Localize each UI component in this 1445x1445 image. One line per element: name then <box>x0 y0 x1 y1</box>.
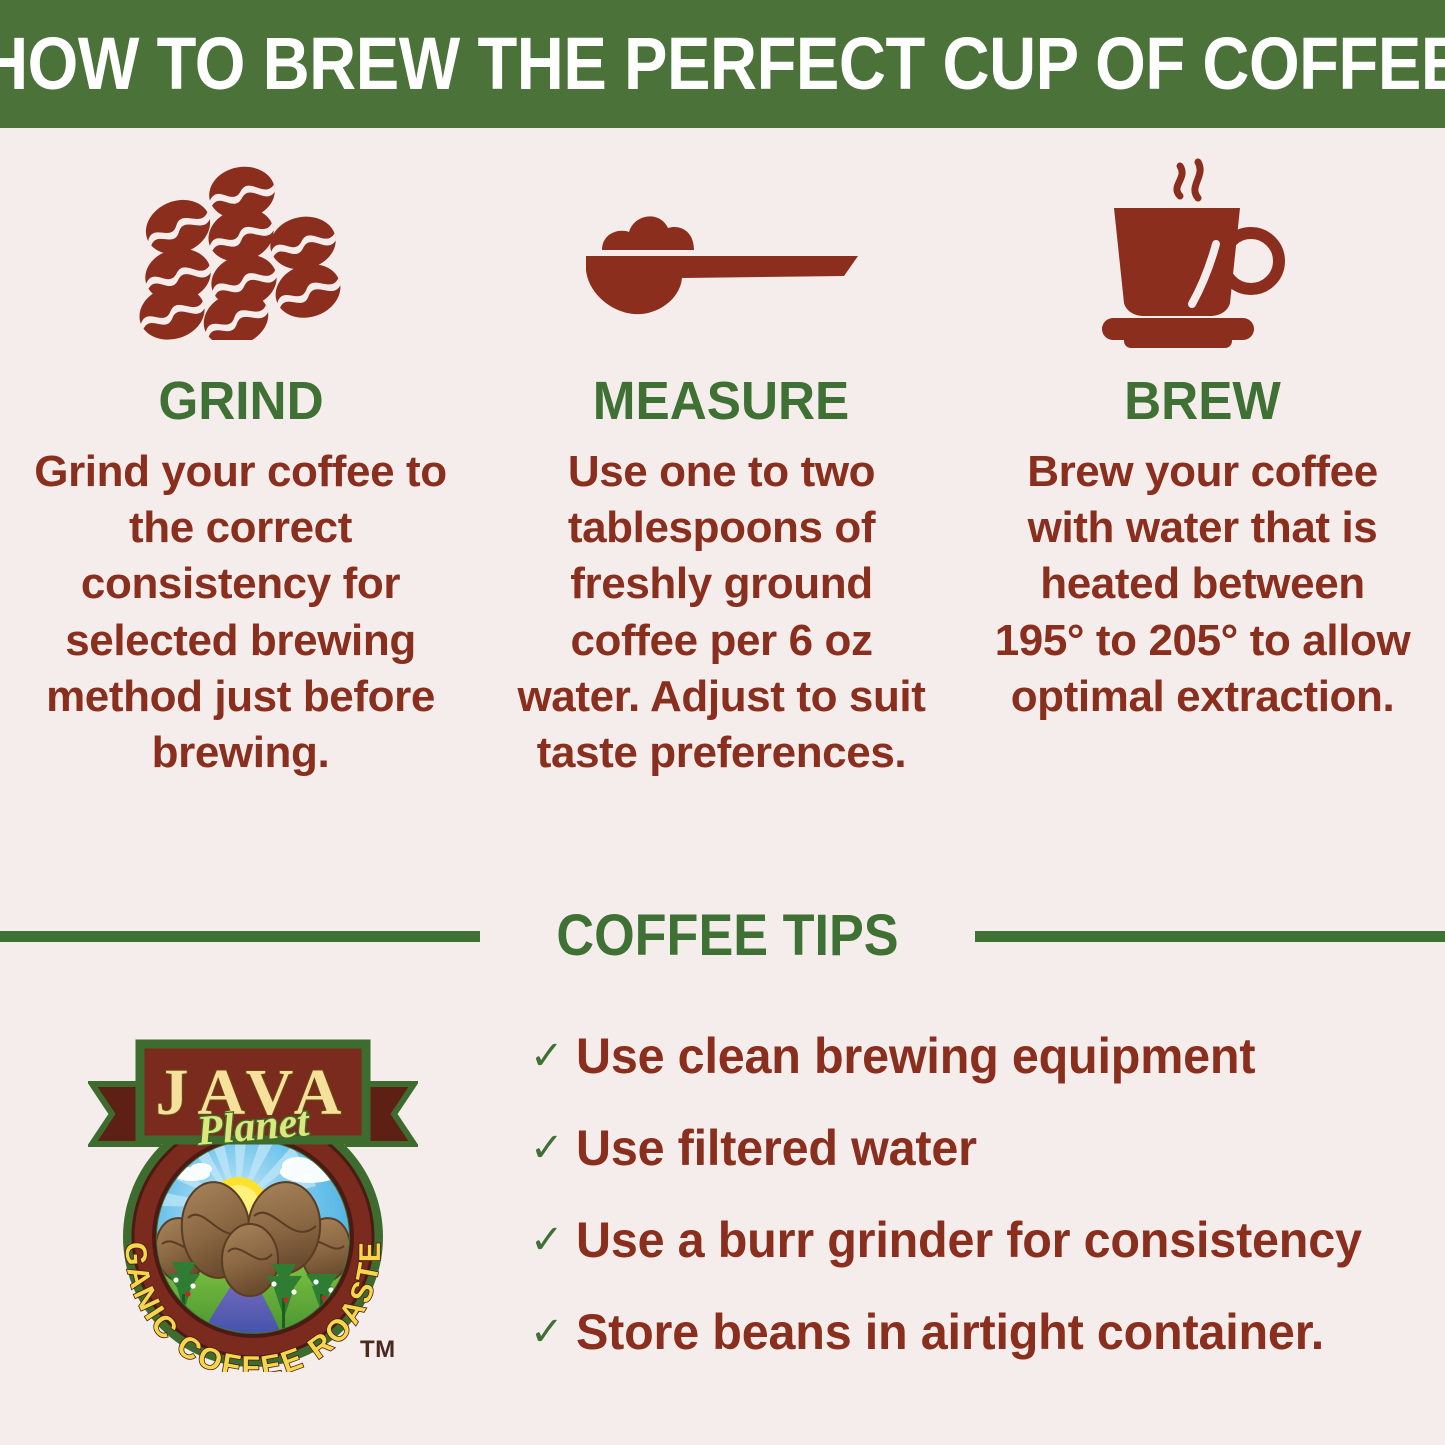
list-item: ✓ Store beans in airtight container. <box>530 1286 1430 1378</box>
coffee-cup-icon <box>1088 158 1318 348</box>
logo-artwork: ORGANIC COFFEE ROASTERS JAVA Planet <box>88 1022 418 1372</box>
step-body-measure: Use one to two tablespoons of freshly gr… <box>512 444 932 782</box>
check-icon: ✓ <box>530 1036 576 1076</box>
coffee-tips-header: COFFEE TIPS <box>0 903 1445 969</box>
tip-text: Store beans in airtight container. <box>576 1307 1324 1357</box>
trademark-mark: TM <box>360 1336 396 1364</box>
measure-icon-box <box>582 150 862 355</box>
list-item: ✓ Use filtered water <box>530 1102 1430 1194</box>
tip-text: Use clean brewing equipment <box>576 1031 1255 1081</box>
steps-row: GRIND Grind your coffee to the correct c… <box>0 150 1445 782</box>
infographic-page: HOW TO BREW THE PERFECT CUP OF COFFEE <box>0 0 1445 1445</box>
brew-icon-box <box>1088 150 1318 355</box>
tip-text: Use a burr grinder for consistency <box>576 1215 1362 1265</box>
step-body-grind: Grind your coffee to the correct consist… <box>31 444 451 782</box>
divider-left <box>0 931 480 942</box>
divider-right <box>975 931 1445 942</box>
check-icon: ✓ <box>530 1220 576 1260</box>
page-title: HOW TO BREW THE PERFECT CUP OF COFFEE <box>0 27 1445 101</box>
step-body-brew: Brew your coffee with water that is heat… <box>993 444 1413 726</box>
java-planet-logo: ORGANIC COFFEE ROASTERS JAVA Planet <box>88 1022 418 1372</box>
coffee-tips-list: ✓ Use clean brewing equipment ✓ Use filt… <box>530 1010 1430 1378</box>
check-icon: ✓ <box>530 1128 576 1168</box>
step-title-measure: MEASURE <box>593 373 850 430</box>
step-measure: MEASURE Use one to two tablespoons of fr… <box>481 150 962 782</box>
step-title-grind: GRIND <box>158 373 323 430</box>
check-icon: ✓ <box>530 1312 576 1352</box>
coffee-tips-title: COFFEE TIPS <box>505 907 951 965</box>
step-title-brew: BREW <box>1124 373 1281 430</box>
step-grind: GRIND Grind your coffee to the correct c… <box>0 150 481 782</box>
step-brew: BREW Brew your coffee with water that is… <box>962 150 1443 725</box>
header-bar: HOW TO BREW THE PERFECT CUP OF COFFEE <box>0 0 1445 128</box>
grind-icon-box <box>136 150 346 355</box>
list-item: ✓ Use a burr grinder for consistency <box>530 1194 1430 1286</box>
coffee-beans-icon <box>136 165 346 340</box>
list-item: ✓ Use clean brewing equipment <box>530 1010 1430 1102</box>
measuring-spoon-icon <box>582 188 862 318</box>
tip-text: Use filtered water <box>576 1123 977 1173</box>
